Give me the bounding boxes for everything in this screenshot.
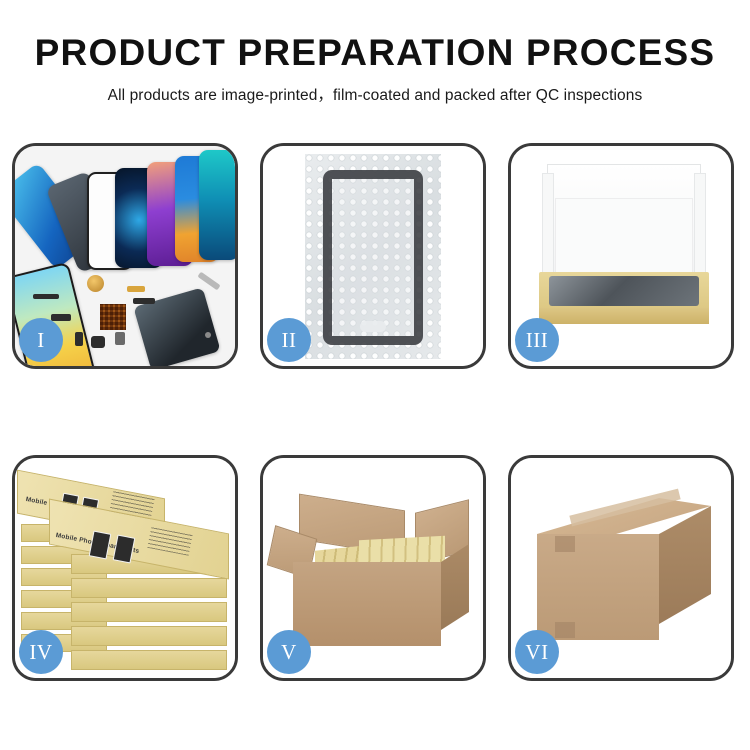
step-badge-6: VI	[515, 630, 559, 674]
step-panel-2[interactable]: II	[260, 143, 486, 369]
tray-front-edge	[539, 308, 709, 324]
chip-grid-part	[100, 304, 126, 330]
kraft-box-side	[71, 626, 227, 646]
flex-cable-part	[33, 294, 59, 299]
tweezers-part	[197, 272, 220, 291]
kraft-box-side	[71, 602, 227, 622]
step-badge-1: I	[19, 318, 63, 362]
step-badge-2: II	[267, 318, 311, 362]
carton-fold-seam-bottom	[555, 622, 575, 638]
speaker-part	[115, 332, 125, 345]
step-panel-6[interactable]: VI	[508, 455, 734, 681]
ribbon-part	[133, 298, 155, 304]
screw-small-part	[205, 332, 211, 338]
gold-connector-part	[127, 286, 145, 292]
sealed-carton-side-face	[659, 506, 711, 624]
camera-module-part	[91, 336, 105, 348]
step-badge-5: V	[267, 630, 311, 674]
home-button-oval	[360, 321, 386, 332]
carton-fold-seam-top	[555, 536, 575, 552]
step-panel-5[interactable]: V	[260, 455, 486, 681]
step-panel-4[interactable]: Mobile Phone Spare Parts Mobile Phone Sp…	[12, 455, 238, 681]
step-badge-4: IV	[19, 630, 63, 674]
wrapped-screen-in-tray	[549, 276, 699, 306]
bubble-wrap-sheet	[305, 154, 441, 359]
process-step-grid: I II III	[12, 143, 738, 681]
kraft-box-side	[71, 578, 227, 598]
kraft-tray	[539, 272, 709, 324]
step-panel-1[interactable]: I	[12, 143, 238, 369]
copper-coil-part	[87, 275, 104, 292]
phone-screen-teal	[199, 150, 235, 260]
page-subtitle: All products are image-printed，film-coat…	[0, 83, 750, 105]
page-header: PRODUCT PREPARATION PROCESS All products…	[0, 0, 750, 105]
foam-pad	[555, 198, 693, 274]
step-badge-3: III	[515, 318, 559, 362]
kraft-box-side	[71, 650, 227, 670]
screw-part	[75, 332, 83, 346]
carton-front-face	[293, 562, 441, 646]
step-panel-3[interactable]: III	[508, 143, 734, 369]
screen-glass-panel	[323, 170, 423, 345]
small-connector-part	[51, 314, 71, 321]
page-title: PRODUCT PREPARATION PROCESS	[0, 34, 750, 73]
